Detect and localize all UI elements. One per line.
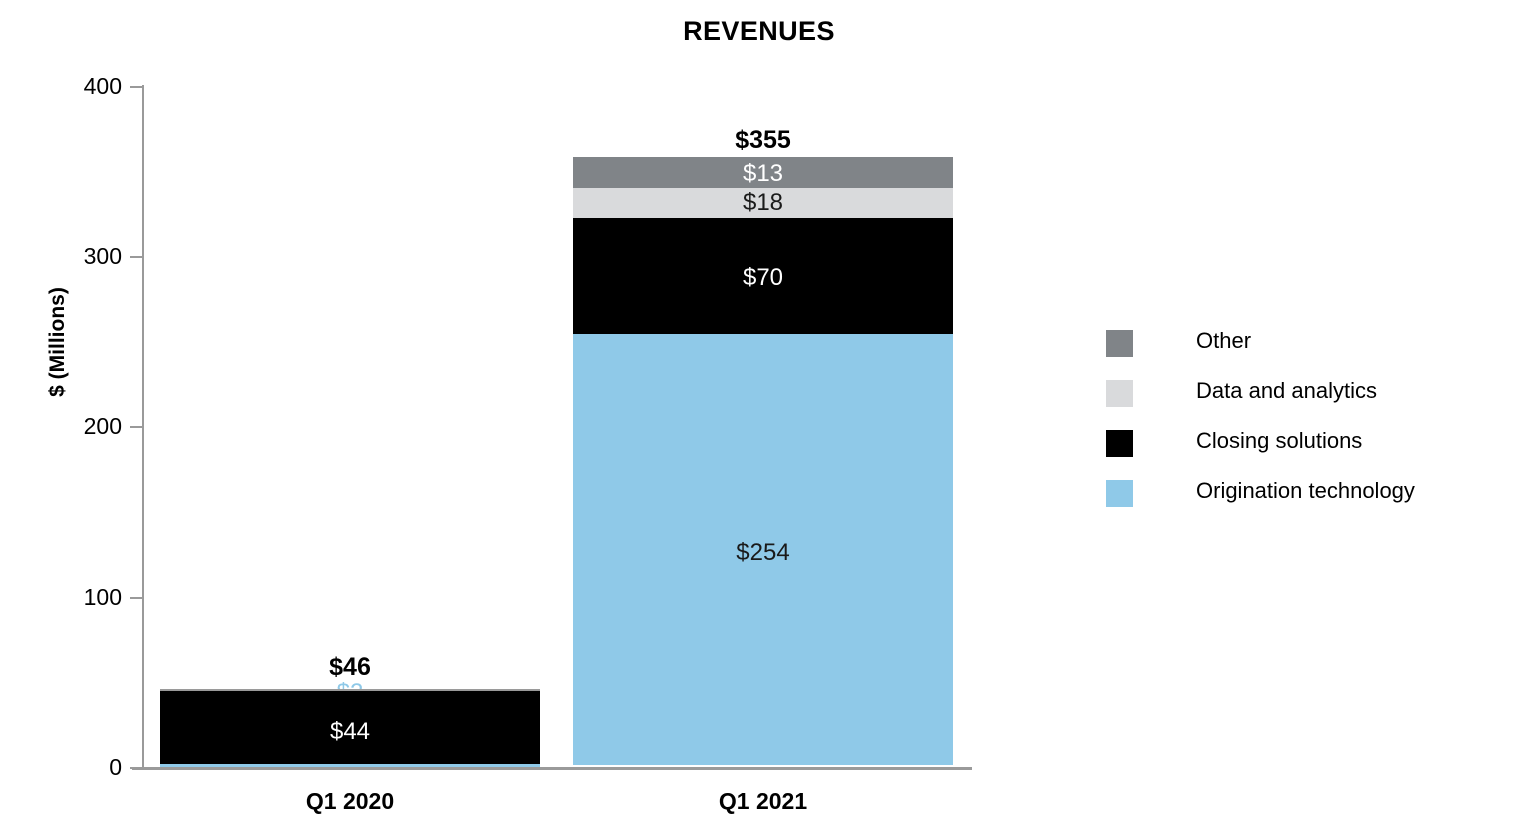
chart-title: REVENUES xyxy=(0,16,1519,47)
legend-swatch-data-and-analytics-icon xyxy=(1106,380,1133,407)
x-axis-line xyxy=(132,767,972,770)
total-label-q1-2021: $355 xyxy=(573,126,953,155)
y-tick-label-300: 300 xyxy=(84,243,122,270)
bar-segment-q1-2021-data-and-analytics xyxy=(573,188,953,218)
y-tick-200 xyxy=(130,426,143,428)
bar-segment-q1-2020-closing-solutions xyxy=(160,689,540,764)
legend-label-data-and-analytics: Data and analytics xyxy=(1196,378,1377,404)
y-tick-400 xyxy=(130,86,143,88)
legend-swatch-origination-technology-icon xyxy=(1106,480,1133,507)
y-tick-100 xyxy=(130,597,143,599)
legend-swatch-closing-solutions-icon xyxy=(1106,430,1133,457)
legend-label-origination-technology: Origination technology xyxy=(1196,478,1415,504)
bar-segment-q1-2021-closing-solutions xyxy=(573,218,953,334)
y-tick-label-0: 0 xyxy=(109,754,122,781)
x-axis-label-q1-2021: Q1 2021 xyxy=(573,788,953,815)
y-tick-label-400: 400 xyxy=(84,73,122,100)
y-tick-label-100: 100 xyxy=(84,584,122,611)
y-tick-300 xyxy=(130,256,143,258)
legend-label-other: Other xyxy=(1196,328,1251,354)
bar-segment-q1-2021-origination-technology xyxy=(573,334,953,765)
y-axis-title: $ (Millions) xyxy=(46,242,70,442)
x-axis-label-q1-2020: Q1 2020 xyxy=(160,788,540,815)
legend-label-closing-solutions: Closing solutions xyxy=(1196,428,1362,454)
total-label-q1-2020: $46 xyxy=(160,653,540,682)
revenues-stacked-bar-chart: REVENUES 400 300 200 100 0 $ (Millions) … xyxy=(0,0,1520,832)
y-tick-label-200: 200 xyxy=(84,413,122,440)
bar-segment-q1-2021-other xyxy=(573,157,953,188)
legend-swatch-other-icon xyxy=(1106,330,1133,357)
